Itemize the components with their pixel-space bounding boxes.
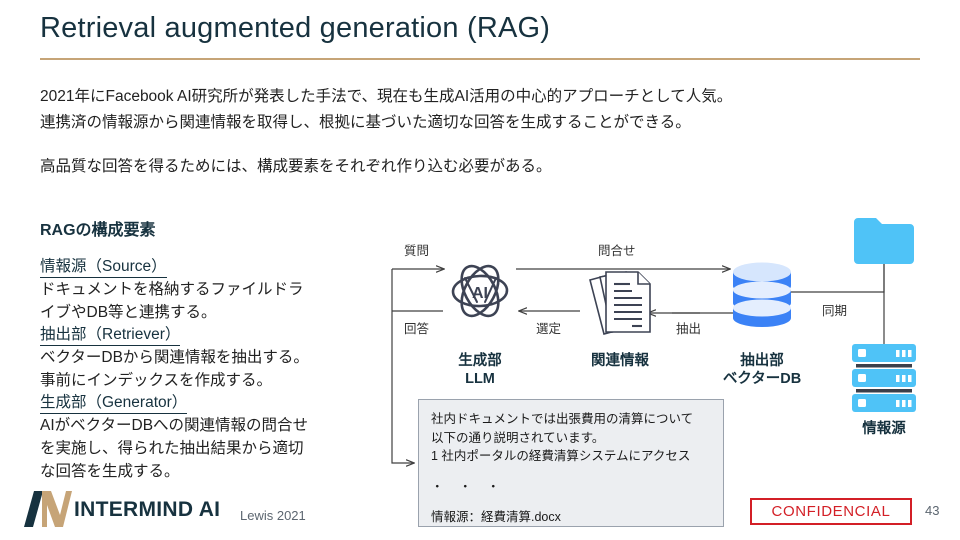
- components-heading: RAGの構成要素: [40, 216, 385, 240]
- component-term-generator: 生成部（Generator）: [40, 392, 187, 414]
- page-title: Retrieval augmented generation (RAG): [40, 12, 550, 45]
- edge-label-question: 質問: [404, 240, 429, 259]
- node-label-source: 情報源: [834, 420, 934, 438]
- intermind-logo-icon: [22, 489, 74, 529]
- intro-line-1: 2021年にFacebook AI研究所が発表した手法で、現在も生成AI活用の中…: [40, 84, 920, 110]
- component-term-source: 情報源（Source）: [40, 256, 167, 278]
- intro-text-block: 2021年にFacebook AI研究所が発表した手法で、現在も生成AI活用の中…: [40, 84, 920, 180]
- component-term-retriever: 抽出部（Retriever）: [40, 324, 180, 346]
- component-desc-source-line-1: ドキュメントを格納するファイルドラ: [40, 278, 385, 301]
- component-desc-retriever-line-2: 事前にインデックスを作成する。: [40, 369, 385, 392]
- edge-label-select: 選定: [536, 318, 561, 337]
- node-label-relevant-info: 関連情報: [570, 352, 670, 370]
- brand-name: INTERMIND AI: [74, 498, 220, 522]
- edge-label-query: 問合せ: [598, 240, 636, 259]
- node-label-vectordb-line-1: 抽出部: [712, 352, 812, 370]
- svg-text:AI: AI: [472, 285, 488, 302]
- callout-line-1: 社内ドキュメントでは出張費用の清算について: [431, 410, 711, 429]
- callout-line-3: 1 社内ポータルの経費清算システムにアクセス: [431, 447, 711, 466]
- node-label-source-line-1: 情報源: [834, 420, 934, 438]
- intro-spacer: [40, 136, 920, 154]
- answer-callout-box: 社内ドキュメントでは出張費用の清算について 以下の通り説明されています。 1 社…: [418, 399, 724, 527]
- component-item-source: 情報源（Source） ドキュメントを格納するファイルドラ イブやDB等と連携す…: [40, 256, 385, 324]
- component-desc-source-line-2: イブやDB等と連携する。: [40, 301, 385, 324]
- edge-label-extract: 抽出: [676, 318, 701, 337]
- component-item-generator: 生成部（Generator） AIがベクターDBへの関連情報の問合せ を実施し、…: [40, 392, 385, 483]
- node-label-vectordb-line-2: ベクターDB: [712, 370, 812, 388]
- credit-label: Lewis 2021: [240, 508, 306, 523]
- intro-line-3: 高品質な回答を得るためには、構成要素をそれぞれ作り込む必要がある。: [40, 154, 920, 180]
- edge-label-sync: 同期: [822, 300, 847, 319]
- status-badge-confidential: CONFIDENCIAL: [750, 498, 912, 525]
- component-desc-generator-line-3: な回答を生成する。: [40, 460, 385, 483]
- slide-canvas: Retrieval augmented generation (RAG) 202…: [0, 0, 960, 540]
- edge-label-answer: 回答: [404, 318, 429, 337]
- callout-line-2: 以下の通り説明されています。: [431, 429, 711, 448]
- intro-line-2: 連携済の情報源から関連情報を取得し、根拠に基づいた適切な回答を生成することができ…: [40, 110, 920, 136]
- node-label-relevant-info-line-1: 関連情報: [570, 352, 670, 370]
- title-rule-divider: [40, 58, 920, 60]
- component-desc-generator-line-2: を実施し、得られた抽出結果から適切: [40, 437, 385, 460]
- component-desc-retriever-line-1: ベクターDBから関連情報を抽出する。: [40, 346, 385, 369]
- edge-sync-arrow: [773, 264, 884, 292]
- callout-source: 情報源：経費清算.docx: [431, 508, 711, 527]
- node-label-llm-line-1: 生成部: [432, 352, 528, 370]
- page-number: 43: [925, 503, 939, 518]
- component-desc-generator-line-1: AIがベクターDBへの関連情報の問合せ: [40, 414, 385, 437]
- components-column: RAGの構成要素 情報源（Source） ドキュメントを格納するファイルドラ イ…: [40, 216, 385, 483]
- node-label-llm-line-2: LLM: [432, 370, 528, 388]
- callout-ellipsis: ・ ・ ・: [431, 478, 711, 497]
- component-item-retriever: 抽出部（Retriever） ベクターDBから関連情報を抽出する。 事前にインデ…: [40, 324, 385, 392]
- edge-answer-to-callout: [392, 311, 414, 463]
- node-label-llm: 生成部 LLM: [432, 352, 528, 388]
- node-label-vectordb: 抽出部 ベクターDB: [712, 352, 812, 388]
